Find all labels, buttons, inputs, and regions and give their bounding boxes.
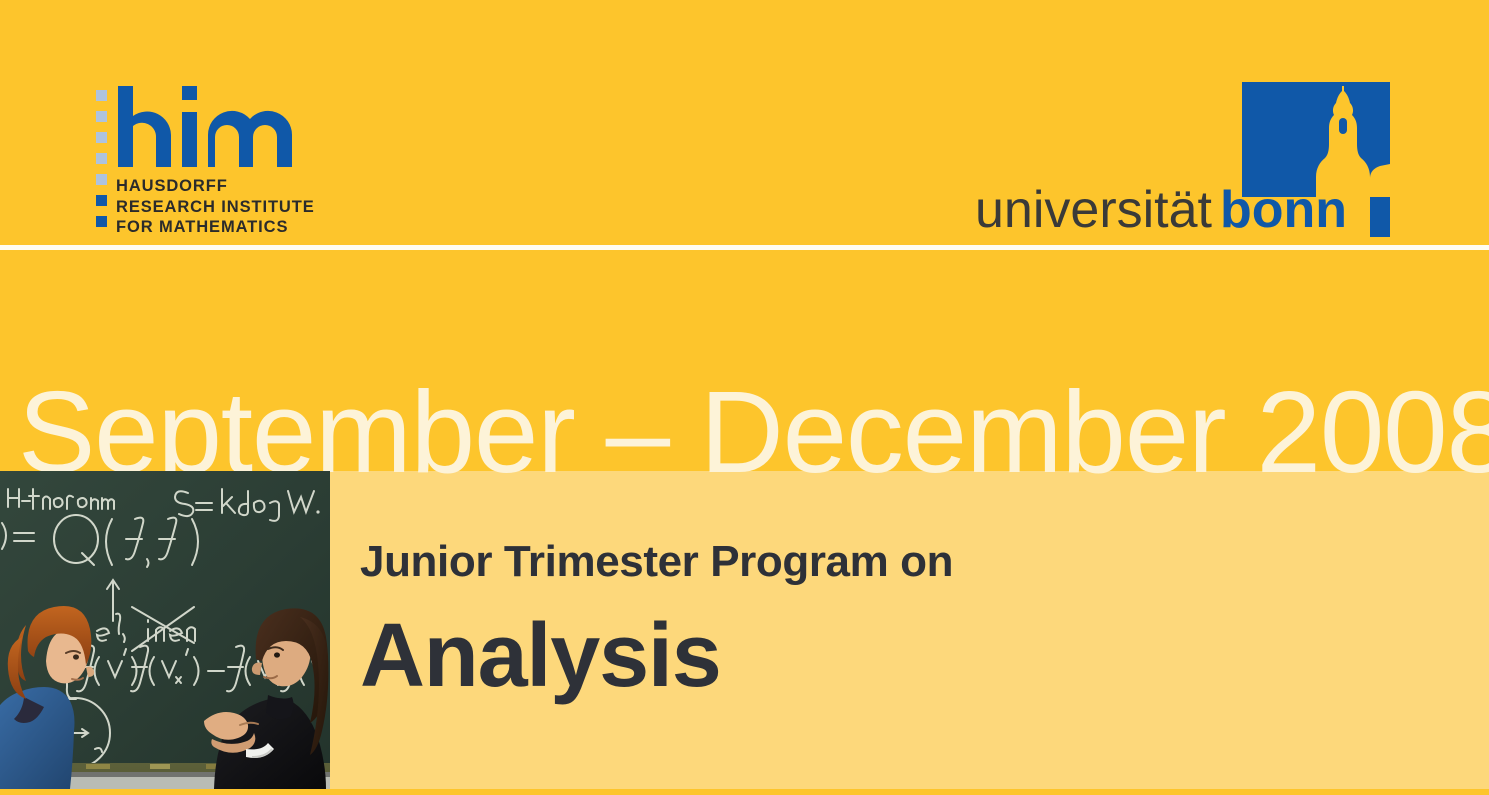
him-logo: HAUSDORFF RESEARCH INSTITUTE FOR MATHEMA…: [96, 88, 416, 236]
poster-canvas: HAUSDORFF RESEARCH INSTITUTE FOR MATHEMA…: [0, 0, 1489, 795]
him-subtitle-line-3: FOR MATHEMATICS: [116, 217, 416, 238]
him-dot-4-icon: [96, 153, 107, 164]
program-kicker: Junior Trimester Program on: [360, 534, 1360, 590]
him-dot-1-icon: [96, 90, 107, 101]
bonn-wordmark: universität bonn: [975, 179, 1375, 241]
bonn-word-bold: bonn: [1220, 181, 1347, 239]
him-dot-7-icon: [96, 216, 107, 227]
him-subtitle: HAUSDORFF RESEARCH INSTITUTE FOR MATHEMA…: [116, 176, 416, 238]
him-dot-3-icon: [96, 132, 107, 143]
him-wordmark-icon: [116, 82, 316, 182]
bonn-word-regular: universität: [975, 181, 1213, 239]
program-text-block: Junior Trimester Program on Analysis: [360, 534, 1360, 704]
him-dot-6-icon: [96, 195, 107, 206]
him-dot-5-icon: [96, 174, 107, 185]
him-subtitle-line-2: RESEARCH INSTITUTE: [116, 197, 416, 218]
chalkboard-photo: [0, 471, 330, 789]
him-subtitle-line-1: HAUSDORFF: [116, 176, 416, 197]
him-dot-2-icon: [96, 111, 107, 122]
program-title: Analysis: [360, 608, 1360, 704]
him-dot-column: [96, 88, 110, 236]
university-bonn-logo: universität bonn: [975, 82, 1390, 237]
bottom-accent-strip: [0, 789, 1489, 795]
header-divider-rule: [0, 245, 1489, 250]
